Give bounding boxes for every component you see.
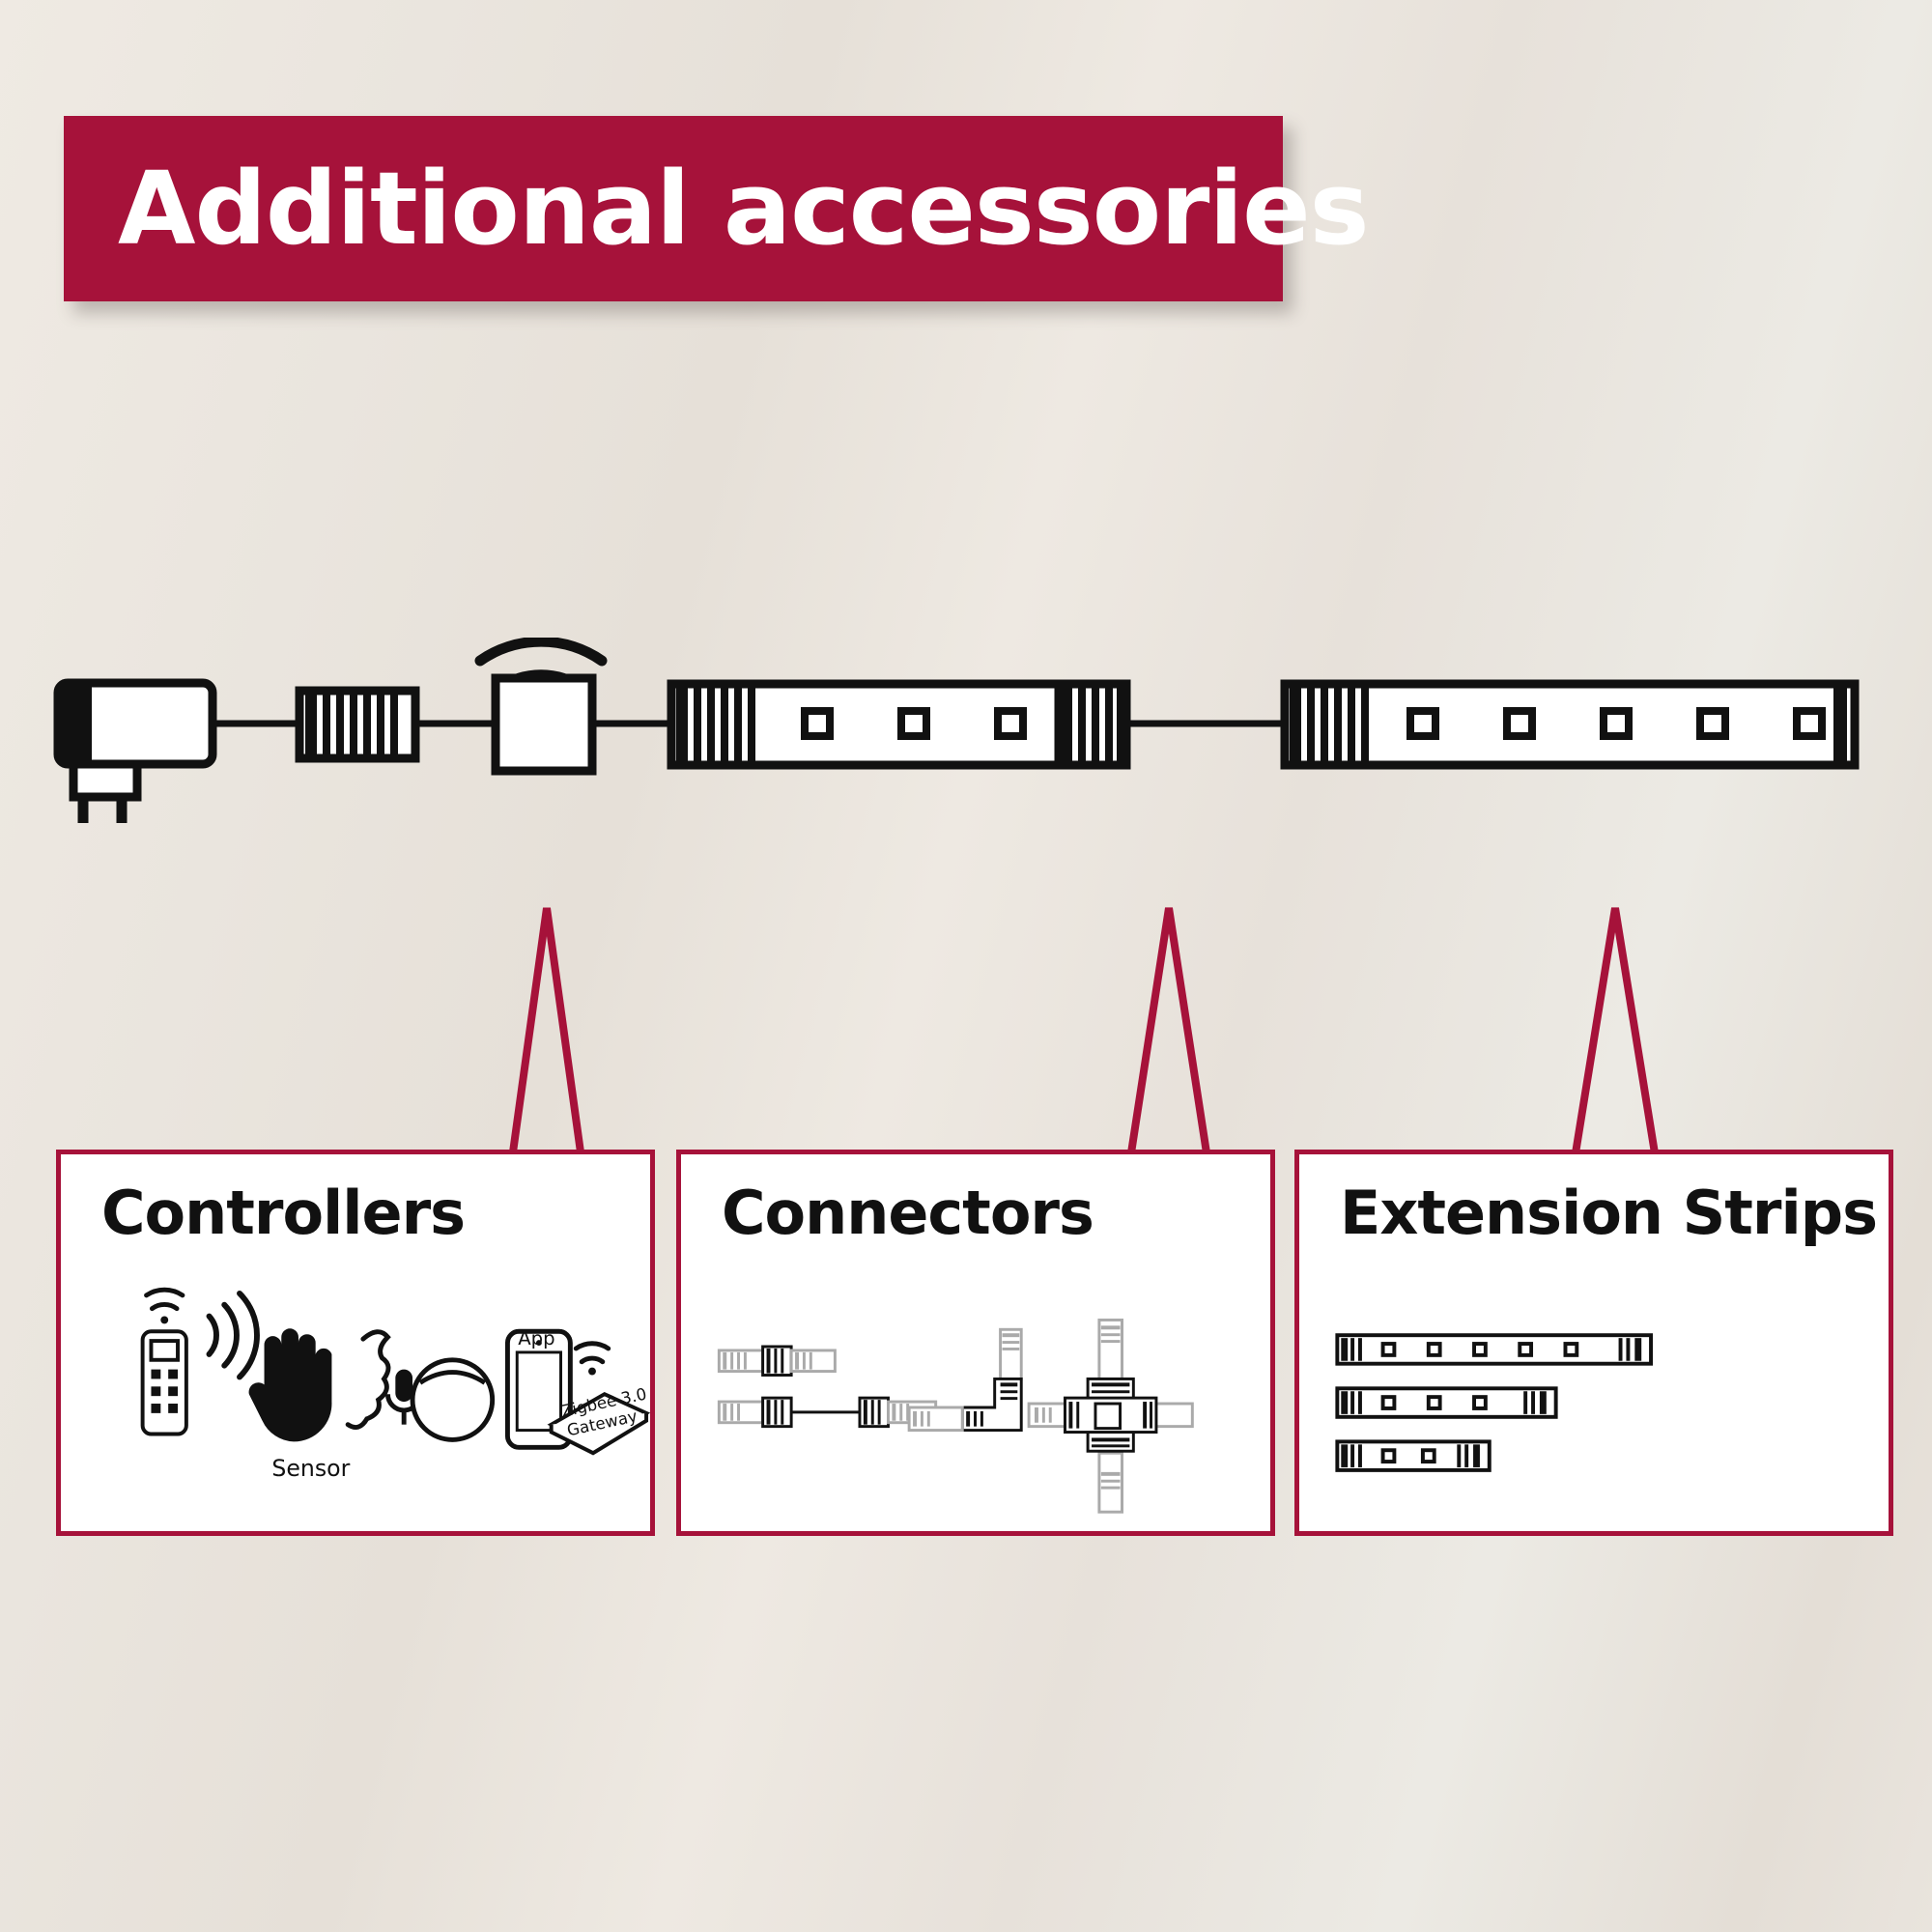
- sensor-label: Sensor: [271, 1455, 350, 1482]
- box-title-controllers: Controllers: [101, 1178, 465, 1248]
- connectors-icon-group: [681, 1280, 1270, 1531]
- pointer-extension: [1575, 908, 1656, 1159]
- extension-strips-icon-group: [1299, 1280, 1889, 1531]
- connector-block-1: [299, 691, 415, 758]
- wifi-small-icon: [576, 1344, 608, 1376]
- page-title: Additional accessories: [64, 158, 1369, 259]
- controllers-icon-group: Sensor App: [61, 1280, 650, 1531]
- connector-block-2: [1059, 684, 1126, 765]
- callout-box-controllers[interactable]: Controllers: [56, 1150, 655, 1536]
- extension-strip-medium-icon: [1337, 1388, 1555, 1417]
- remote-control-icon: [143, 1290, 186, 1434]
- poster-canvas: Additional accessories: [0, 0, 1932, 1932]
- callout-box-extension-strips[interactable]: Extension Strips: [1294, 1150, 1893, 1536]
- box-title-connectors: Connectors: [722, 1178, 1094, 1248]
- app-label: App: [518, 1327, 554, 1350]
- cross-connector-icon: [1029, 1320, 1192, 1512]
- power-supply-icon: [58, 683, 213, 823]
- pointer-controllers: [512, 908, 582, 1159]
- box-title-extension-strips: Extension Strips: [1340, 1178, 1877, 1248]
- led-strip-segment-2: [1285, 684, 1855, 765]
- controller-module: [496, 678, 592, 771]
- extension-strip-long-icon: [1337, 1335, 1651, 1364]
- title-banner: Additional accessories: [64, 116, 1283, 301]
- extension-strip-short-icon: [1337, 1441, 1489, 1470]
- strip-to-strip-connector-icon: [719, 1347, 935, 1427]
- callout-box-connectors[interactable]: Connectors: [676, 1150, 1275, 1536]
- pointer-connectors: [1130, 908, 1207, 1159]
- system-schematic: [0, 638, 1932, 927]
- voice-assistant-icon: [348, 1332, 493, 1440]
- motion-sensor-hand-icon: [209, 1293, 331, 1441]
- corner-connector-icon: [909, 1329, 1021, 1430]
- callout-pointers: [0, 898, 1932, 1169]
